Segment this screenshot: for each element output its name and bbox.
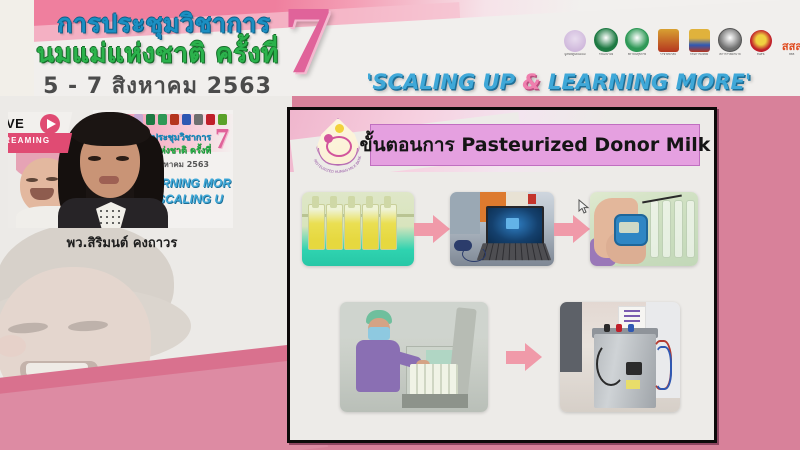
play-triangle-icon: [47, 119, 56, 129]
sponsor-logo-strip: มูลนิธิศูนย์นมแม่ กรมอนามัย สถาบันสุขภาพ…: [562, 22, 800, 56]
inset-edition-number: 7: [215, 126, 229, 154]
conference-tagline: 'SCALING UP & LEARNING MORE': [366, 70, 792, 94]
content-panel: PASTEURIZED HUMAN MILK BANK ขั้นตอนการ P…: [287, 107, 717, 443]
photo-hand-holding-timer: [590, 192, 698, 266]
tagline-ampersand: &: [522, 70, 540, 94]
pasteurized-human-milk-bank-logo: PASTEURIZED HUMAN MILK BANK: [308, 118, 366, 176]
photo-pasteurizer-machine: [560, 302, 680, 412]
sponsor-logo-7: สสส สสส.: [779, 22, 800, 56]
sponsor-logo-6-caption: สปสช.: [757, 53, 765, 56]
panel-title-banner: ขั้นตอนการ Pasteurized Donor Milk: [370, 124, 700, 166]
photo-nurse-loading-pasteurizer: [340, 302, 488, 412]
tagline-part-open: 'SCALING UP: [366, 70, 522, 94]
sponsor-logo-6: สปสช.: [748, 22, 774, 56]
sponsor-logo-4-caption: กรมการแพทย์: [690, 53, 708, 56]
conference-date: 5 - 7 สิงหาคม 2563: [20, 68, 295, 96]
sponsor-logo-4: กรมการแพทย์: [686, 22, 712, 56]
mouse-pointer: [578, 199, 590, 215]
sponsor-logo-0: มูลนิธิศูนย์นมแม่: [562, 22, 588, 56]
conference-edition-number: 7: [283, 0, 331, 88]
sponsor-logo-3: ราชวิทยาลัย: [655, 22, 681, 56]
streaming-label: TREAMING: [8, 136, 50, 145]
speaker-name: พว.สิริมนต์ คงถาวร: [12, 232, 232, 253]
process-arrow-1: [414, 214, 450, 244]
live-video-inset[interactable]: การประชุมวิชาการ นมแม่แห่งชาติ ครั้งที่ …: [8, 110, 233, 228]
process-row-bottom: [340, 302, 690, 412]
sponsor-logo-2: สถาบันสุขภาพ: [624, 22, 650, 56]
process-arrow-3: [506, 342, 542, 372]
sponsor-logo-5: สภาการพยาบาล: [717, 22, 743, 56]
panel-title-text: ขั้นตอนการ Pasteurized Donor Milk: [360, 130, 711, 160]
sponsor-logo-7-caption: สสส.: [789, 53, 795, 56]
sponsor-logo-1-caption: กรมอนามัย: [599, 53, 614, 56]
sponsor-logo-2-caption: สถาบันสุขภาพ: [628, 53, 647, 56]
photo-milk-bottles-rack: [302, 192, 414, 266]
process-row-top: [302, 192, 702, 266]
svg-text:PASTEURIZED HUMAN MILK BANK: PASTEURIZED HUMAN MILK BANK: [313, 155, 362, 174]
tagline-part-close: LEARNING MORE': [541, 70, 752, 94]
sponsor-logo-5-caption: สภาการพยาบาล: [719, 53, 740, 56]
photo-laptop-monitoring: [450, 192, 554, 266]
slide-header: การประชุมวิชาการ นมแม่แห่งชาติ ครั้งที่ …: [0, 0, 800, 96]
slide-canvas: การประชุมวิชาการ นมแม่แห่งชาติ ครั้งที่ …: [0, 0, 800, 450]
sponsor-logo-1: กรมอนามัย: [593, 22, 619, 56]
live-label: VE: [8, 116, 24, 131]
live-streaming-badge: VE TREAMING: [8, 112, 72, 154]
sponsor-logo-3-caption: ราชวิทยาลัย: [660, 53, 676, 56]
process-arrow-2: [554, 214, 590, 244]
sponsor-logo-0-caption: มูลนิธิศูนย์นมแม่: [564, 53, 585, 56]
